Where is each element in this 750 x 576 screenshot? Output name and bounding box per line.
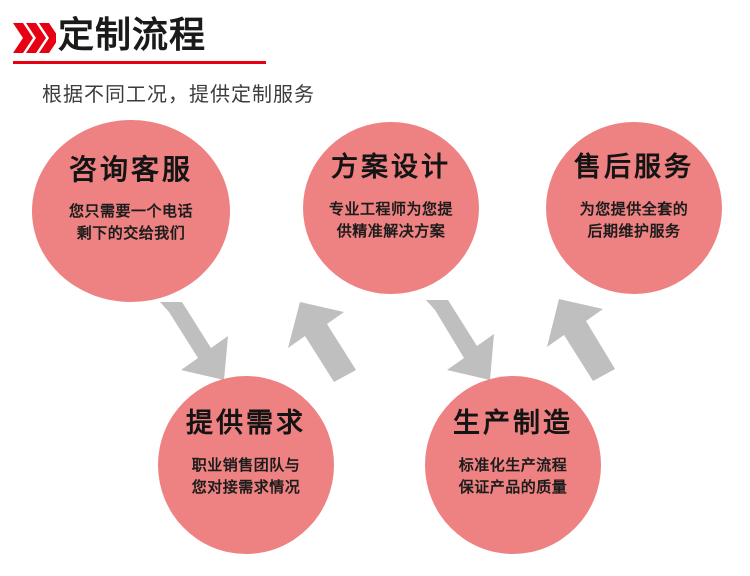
process-flow-diagram: 咨询客服 您只需要一个电话 剩下的交给我们 方案设计 专业工程师为您提 供精准解… (0, 0, 750, 576)
process-node-2-desc-line-2: 供精准解决方案 (337, 220, 446, 242)
process-node-3[interactable]: 售后服务 为您提供全套的 后期维护服务 (546, 122, 722, 294)
process-node-1-desc-line-2: 剩下的交给我们 (77, 222, 186, 244)
process-node-5-title: 生产制造 (453, 408, 573, 440)
process-node-3-desc-line-1: 为您提供全套的 (580, 198, 689, 220)
process-node-1-title: 咨询客服 (69, 154, 193, 186)
process-node-4[interactable]: 提供需求 职业销售团队与 您对接需求情况 (158, 376, 334, 554)
process-node-3-title: 售后服务 (574, 152, 694, 184)
process-node-4-desc-line-2: 您对接需求情况 (192, 476, 301, 498)
arrow-up-right-icon (545, 295, 637, 383)
process-node-5-desc-line-1: 标准化生产流程 (459, 454, 568, 476)
process-node-4-desc-line-1: 职业销售团队与 (192, 454, 301, 476)
arrow-up-right-icon (286, 298, 378, 384)
process-node-2[interactable]: 方案设计 专业工程师为您提 供精准解决方案 (303, 122, 479, 294)
process-node-2-desc-line-1: 专业工程师为您提 (329, 198, 453, 220)
process-node-3-desc-line-2: 后期维护服务 (587, 220, 680, 242)
process-node-1[interactable]: 咨询客服 您只需要一个电话 剩下的交给我们 (32, 120, 230, 302)
process-node-5-desc-line-2: 保证产品的质量 (459, 476, 568, 498)
process-node-1-desc-line-1: 您只需要一个电话 (69, 200, 193, 222)
customization-process-slide: 定制流程 根据不同工况，提供定制服务 (0, 0, 750, 576)
process-node-2-title: 方案设计 (331, 152, 451, 184)
arrow-down-right-icon (148, 300, 240, 384)
arrow-down-right-icon (414, 298, 506, 384)
process-node-5[interactable]: 生产制造 标准化生产流程 保证产品的质量 (425, 376, 601, 554)
process-node-4-title: 提供需求 (186, 408, 306, 440)
